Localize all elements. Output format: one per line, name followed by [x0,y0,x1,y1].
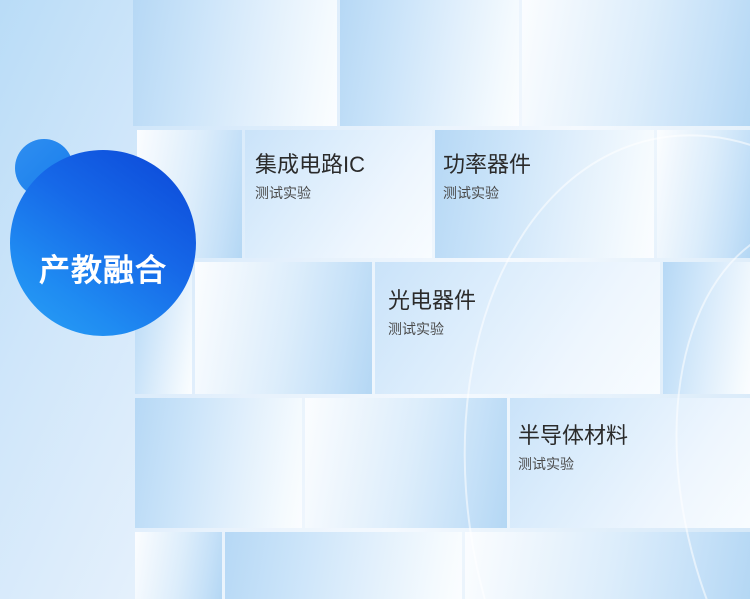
mosaic-tile [225,532,462,599]
card-item[interactable]: 半导体材料测试实验 [518,423,628,473]
card-subtitle: 测试实验 [255,185,365,202]
mosaic-tile [465,532,750,599]
mosaic-tile [135,532,222,599]
mosaic-tile [340,0,519,126]
badge: 产教融合 [0,130,210,330]
card-title: 集成电路IC [255,152,365,178]
card-title: 功率器件 [443,152,531,178]
mosaic-tile [663,262,750,394]
badge-circle: 产教融合 [10,150,196,336]
mosaic-tile [305,398,507,528]
mosaic-tile [135,398,302,528]
card-item[interactable]: 光电器件测试实验 [388,288,476,338]
mosaic-tile [133,0,337,126]
card-subtitle: 测试实验 [518,456,628,473]
mosaic-tile [195,262,372,394]
badge-label: 产教融合 [39,245,167,290]
product-banner: 产教融合 集成电路IC测试实验功率器件测试实验光电器件测试实验半导体材料测试实验 [0,0,750,599]
mosaic-tile [522,0,750,126]
card-subtitle: 测试实验 [443,185,531,202]
card-item[interactable]: 集成电路IC测试实验 [255,152,365,202]
mosaic-tile [657,130,750,258]
card-subtitle: 测试实验 [388,321,476,338]
card-title: 光电器件 [388,288,476,314]
card-item[interactable]: 功率器件测试实验 [443,152,531,202]
card-title: 半导体材料 [518,423,628,449]
